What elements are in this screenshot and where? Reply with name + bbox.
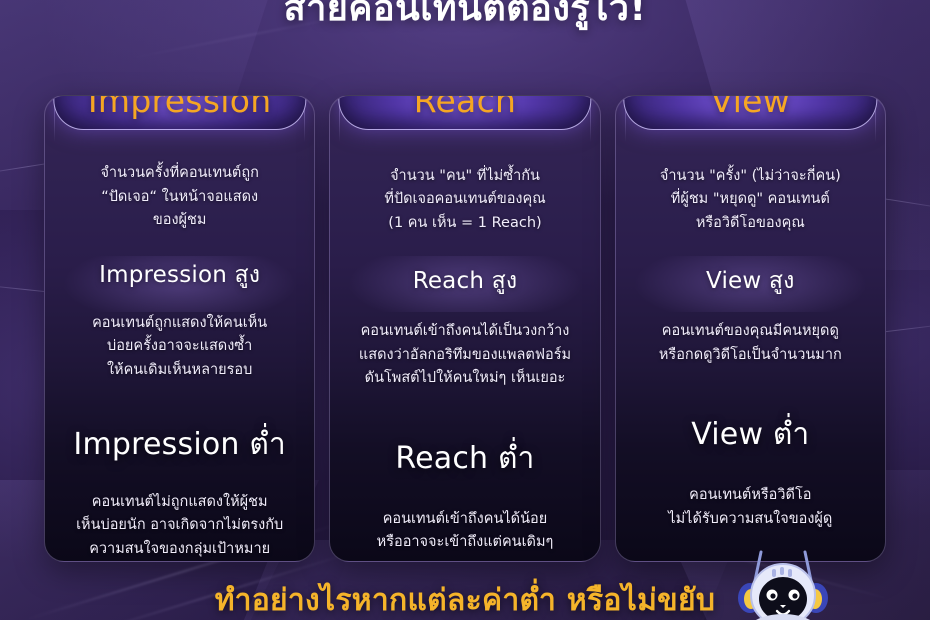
definition-line: จำนวนครั้งที่คอนเทนต์ถูก: [100, 162, 258, 185]
metric-high-description: คอนเทนต์เข้าถึงคนได้เป็นวงกว้าง แสดงว่าอ…: [359, 320, 571, 390]
metric-low-heading: Reach ต่ำ: [395, 435, 534, 482]
metric-pill-label: Impression: [88, 95, 272, 117]
definition-line: ของผู้ชม: [100, 209, 258, 232]
metric-card-impression: Impression จำนวนครั้งที่คอนเทนต์ถูก “ปัด…: [44, 95, 315, 562]
low-desc-line: เห็นบ่อยนัก อาจเกิดจากไม่ตรงกับ: [76, 514, 283, 537]
high-desc-line: ดันโพสต์ไปให้คนใหม่ๆ เห็นเยอะ: [359, 367, 571, 390]
metric-low-heading: Impression ต่ำ: [73, 421, 285, 468]
definition-line: จำนวน "ครั้ง" (ไม่ว่าจะกี่คน): [660, 165, 841, 188]
metric-card-body: จำนวน "ครั้ง" (ไม่ว่าจะกี่คน) ที่ผู้ชม "…: [616, 144, 885, 561]
high-desc-line: หรือกดดูวิดีโอเป็นจำนวนมาก: [659, 344, 842, 367]
metric-low-description: คอนเทนต์ไม่ถูกแสดงให้ผู้ชม เห็นบ่อยนัก อ…: [76, 491, 283, 561]
definition-line: หรือวิดีโอของคุณ: [660, 212, 841, 235]
high-desc-line: คอนเทนต์ของคุณมีคนหยุดดู: [659, 320, 842, 343]
definition-line: ที่ผู้ชม "หยุดดู" คอนเทนต์: [660, 188, 841, 211]
metric-definition: จำนวน "ครั้ง" (ไม่ว่าจะกี่คน) ที่ผู้ชม "…: [660, 165, 841, 235]
definition-line: จำนวน "คน" ที่ไม่ซ้ำกัน: [384, 165, 545, 188]
metric-high-description: คอนเทนต์ถูกแสดงให้คนเห็น บ่อยครั้งอาจจะแ…: [92, 312, 267, 382]
definition-line: “ปัดเจอ“ ในหน้าจอแสดง: [100, 186, 258, 209]
infographic-canvas: สายคอนเทนต์ต้องรู้ไว้! Impression จำนวนค…: [0, 0, 930, 620]
header: สายคอนเทนต์ต้องรู้ไว้!: [0, 0, 930, 29]
metric-card-body: จำนวนครั้งที่คอนเทนต์ถูก “ปัดเจอ“ ในหน้า…: [45, 144, 314, 561]
high-desc-line: แสดงว่าอัลกอริทึมของแพลตฟอร์ม: [359, 344, 571, 367]
metric-low-description: คอนเทนต์หรือวิดีโอ ไม่ได้รับความสนใจของผ…: [668, 484, 832, 531]
metric-cards-row: Impression จำนวนครั้งที่คอนเทนต์ถูก “ปัด…: [44, 95, 886, 562]
metric-card-reach: Reach จำนวน "คน" ที่ไม่ซ้ำกัน ที่ปัดเจอค…: [329, 95, 600, 562]
low-desc-line: ไม่ได้รับความสนใจของผู้ดู: [668, 508, 832, 531]
metric-pill-impression[interactable]: Impression: [53, 95, 306, 130]
metric-pill-reach[interactable]: Reach: [338, 95, 591, 130]
metric-definition: จำนวนครั้งที่คอนเทนต์ถูก “ปัดเจอ“ ในหน้า…: [100, 162, 258, 232]
metric-high-heading: Impression สูง: [99, 257, 260, 293]
metric-high-description: คอนเทนต์ของคุณมีคนหยุดดู หรือกดดูวิดีโอเ…: [659, 320, 842, 367]
metric-high-heading: Reach สูง: [413, 263, 518, 299]
robot-mascot-svg: [723, 548, 843, 620]
low-desc-line: คอนเทนต์ไม่ถูกแสดงให้ผู้ชม: [76, 491, 283, 514]
definition-line: ที่ปัดเจอคอนเทนต์ของคุณ: [384, 188, 545, 211]
robot-mascot-icon: [723, 548, 843, 620]
metric-low-heading: View ต่ำ: [691, 411, 809, 458]
metric-card-view: View จำนวน "ครั้ง" (ไม่ว่าจะกี่คน) ที่ผู…: [615, 95, 886, 562]
high-desc-line: บ่อยครั้งอาจจะแสดงซ้ำ: [92, 335, 267, 358]
high-desc-line: คอนเทนต์ถูกแสดงให้คนเห็น: [92, 312, 267, 335]
metric-low-description: คอนเทนต์เข้าถึงคนได้น้อย หรืออาจจะเข้าถึ…: [377, 508, 554, 555]
metric-card-body: จำนวน "คน" ที่ไม่ซ้ำกัน ที่ปัดเจอคอนเทนต…: [330, 144, 599, 561]
metric-pill-label: View: [711, 95, 791, 117]
low-desc-line: หรืออาจจะเข้าถึงแต่คนเดิมๆ: [377, 531, 554, 554]
metric-pill-view[interactable]: View: [624, 95, 877, 130]
low-desc-line: ความสนใจของกลุ่มเป้าหมาย: [76, 538, 283, 561]
metric-pill-label: Reach: [414, 95, 517, 117]
low-desc-line: คอนเทนต์เข้าถึงคนได้น้อย: [377, 508, 554, 531]
metric-high-heading: View สูง: [706, 263, 795, 299]
low-desc-line: คอนเทนต์หรือวิดีโอ: [668, 484, 832, 507]
high-desc-line: ให้คนเดิมเห็นหลายรอบ: [92, 359, 267, 382]
metric-definition: จำนวน "คน" ที่ไม่ซ้ำกัน ที่ปัดเจอคอนเทนต…: [384, 165, 545, 235]
definition-line: (1 คน เห็น = 1 Reach): [384, 212, 545, 235]
page-title: สายคอนเทนต์ต้องรู้ไว้!: [0, 0, 930, 29]
high-desc-line: คอนเทนต์เข้าถึงคนได้เป็นวงกว้าง: [359, 320, 571, 343]
